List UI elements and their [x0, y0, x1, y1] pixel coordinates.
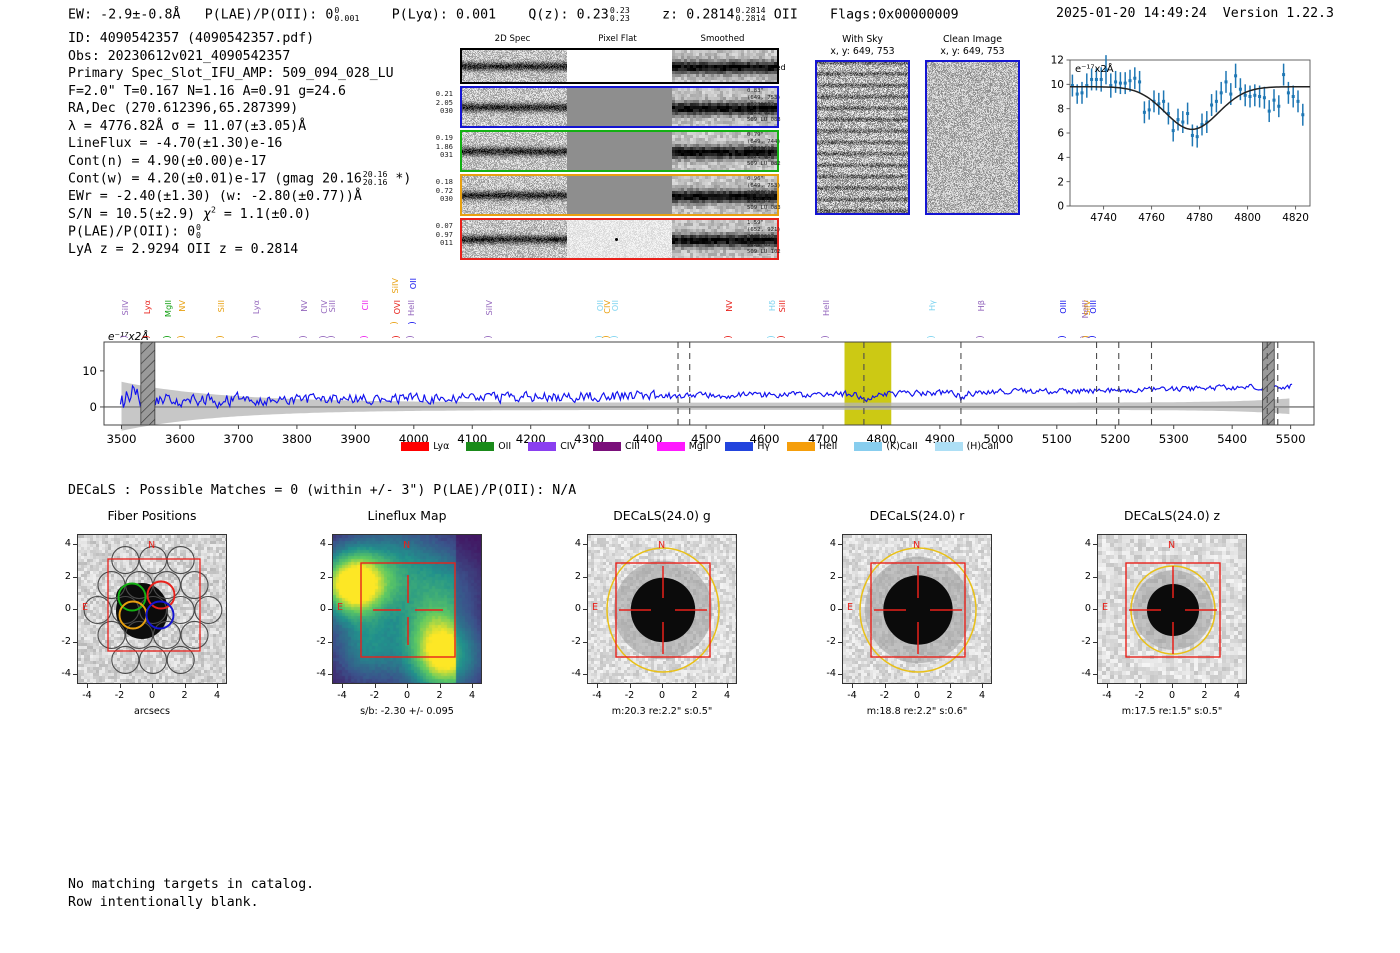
decals-ytick-label: -2	[812, 636, 836, 647]
decals-panel-title-0: Fiber Positions	[77, 508, 227, 523]
twod-left-label: 030	[415, 107, 453, 116]
spectrum-line-label-MgII: MgII	[163, 300, 173, 317]
decals-xtick-mark	[440, 684, 441, 688]
spectrum-line-brace: (	[404, 335, 414, 339]
legend-label: Lyα	[433, 441, 449, 452]
decals-panel-image-0	[77, 534, 227, 684]
decals-xtick-label: 4	[205, 690, 229, 701]
spectrum-line-brace: (	[297, 335, 307, 339]
legend-label: (H)CaII	[967, 441, 999, 452]
twod-right-label: 509_LU_083	[747, 117, 781, 124]
info-lineflux: LineFlux = -4.70(±1.30)e-16	[68, 135, 411, 153]
info-cont-w-sub: 20.16	[363, 178, 388, 186]
decals-ytick-label: -2	[47, 636, 71, 647]
decals-ytick-mark	[1093, 577, 1097, 578]
decals-xtick-label: 4	[970, 690, 994, 701]
decals-ytick-mark	[73, 642, 77, 643]
decals-overlay-3	[843, 535, 992, 684]
main-spectrum-panel: 0103500360037003800390040004100420043004…	[60, 276, 1320, 461]
header-qz-sub: 0.23	[610, 14, 630, 22]
twod-row-right-labels-1: 0.83"(649, 753)20230612v021_02509_LU_083	[747, 88, 781, 124]
decals-panel-title-2: DECaLS(24.0) g	[587, 508, 737, 523]
spectrum-line-label-HeII: HeII	[406, 300, 416, 316]
twod-row-left-labels-4: 0.070.97011	[415, 222, 453, 248]
spectrum-line-brace: (	[118, 335, 128, 339]
info-params: F=2.0" T=0.167 N=1.16 A=0.91 g=24.6	[68, 83, 411, 101]
footer-note: No matching targets in catalog. Row inte…	[68, 876, 314, 911]
legend-item-CIV: CIV	[528, 441, 576, 452]
spectrum-line-brace: (	[388, 321, 398, 325]
decals-xtick-label: -4	[75, 690, 99, 701]
decals-summary-line: DECaLS : Possible Matches = 0 (within +/…	[68, 483, 576, 498]
header-plya-label: P(Lyα):	[392, 7, 448, 22]
fitplot-ytick: 12	[1051, 55, 1064, 67]
cutout-image-sky	[815, 60, 910, 215]
decals-ytick-mark	[73, 577, 77, 578]
info-id: ID: 4090542357 (4090542357.pdf)	[68, 30, 411, 48]
decals-ytick-mark	[328, 544, 332, 545]
spectrum-line-label-H: Hβ	[976, 300, 986, 311]
spectrum-line-label-OII: OII	[408, 278, 418, 289]
info-sn-chi2: S/N = 10.5(±2.9) χ2 = 1.1(±0.0)	[68, 206, 411, 224]
decals-xtick-mark	[375, 684, 376, 688]
fitplot-xtick: 4800	[1234, 212, 1261, 224]
decals-ytick-label: -2	[302, 636, 326, 647]
spectrum-line-label-OIII: OIII	[1088, 300, 1098, 314]
twod-col-title-2dspec: 2D Spec	[460, 34, 565, 44]
decals-xtick-label: 4	[1225, 690, 1249, 701]
decals-ytick-mark	[583, 577, 587, 578]
spectrum-line-label-SiII: SiII	[216, 300, 226, 312]
decals-xtick-label: -4	[1095, 690, 1119, 701]
legend-item-CIII: CIII	[593, 441, 640, 452]
fitplot-xtick: 4760	[1138, 212, 1165, 224]
decals-ytick-label: 2	[1067, 571, 1091, 582]
cutout-image-clean	[925, 60, 1020, 215]
twod-right-label: (652, 921)	[747, 227, 781, 234]
decals-ytick-mark	[1093, 609, 1097, 610]
legend-item-HCaII: (H)CaII	[935, 441, 999, 452]
twod-right-label: 20230612	[747, 234, 781, 241]
spectrum-line-brace: (	[1055, 335, 1065, 339]
fitplot-ytick: 4	[1057, 152, 1064, 164]
decals-ytick-label: -4	[1067, 668, 1091, 679]
spectrum-line-brace: (	[325, 335, 335, 339]
decals-xtick-mark	[630, 684, 631, 688]
spectrum-line-label-SiIV: SiIV	[484, 300, 494, 316]
decals-ytick-label: 4	[302, 538, 326, 549]
cutout-thumbnail-group: With Skyx, y: 649, 753Clean Imagex, y: 6…	[815, 34, 1025, 249]
spectrum-line-label-Ly: Lyα	[142, 300, 152, 314]
decals-xtick-label: 0	[1160, 690, 1184, 701]
spectrum-line-label-SiII: SiII	[777, 300, 787, 312]
legend-swatch	[593, 442, 621, 451]
twod-left-label: 030	[415, 195, 453, 204]
decals-xtick-mark	[1107, 684, 1108, 688]
decals-ytick-mark	[73, 674, 77, 675]
decals-panel-title-4: DECaLS(24.0) z	[1097, 508, 1247, 523]
spectrum-line-label-Ly: Lyα	[251, 300, 261, 314]
decals-xtick-mark	[152, 684, 153, 688]
decals-ytick-mark	[73, 544, 77, 545]
decals-ytick-mark	[328, 642, 332, 643]
decals-ytick-mark	[1093, 642, 1097, 643]
decals-xtick-label: 2	[938, 690, 962, 701]
spectrum-line-brace: (	[924, 335, 934, 339]
decals-panel-image-3	[842, 534, 992, 684]
pixelflat-defect-dot	[615, 238, 618, 241]
twod-cell-smoothed	[672, 50, 777, 82]
legend-label: CIV	[560, 441, 576, 452]
decals-xtick-label: -2	[363, 690, 387, 701]
twod-spec-row-4	[460, 218, 779, 260]
twod-spec-row-1	[460, 86, 779, 128]
spectrum-line-brace: (	[775, 335, 785, 339]
spectrum-ytick: 0	[90, 400, 97, 414]
spectrum-line-label-NV: NV	[177, 300, 187, 312]
info-plae-ratio: P(LAE)/P(OII): 000	[68, 223, 411, 241]
decals-xtick-label: 0	[650, 690, 674, 701]
spectrum-line-brace: (	[1086, 335, 1096, 339]
decals-xtick-label: -2	[108, 690, 132, 701]
decals-xtick-label: 0	[395, 690, 419, 701]
decals-xtick-mark	[407, 684, 408, 688]
legend-label: (K)CaII	[886, 441, 917, 452]
twod-col-title-pixelflat: Pixel Flat	[565, 34, 670, 44]
legend-swatch	[401, 442, 429, 451]
spectrum-line-brace: (	[214, 335, 224, 339]
decals-xtick-mark	[917, 684, 918, 688]
decals-ytick-label: 2	[557, 571, 581, 582]
decals-ytick-mark	[838, 609, 842, 610]
spectrum-line-brace: (	[249, 335, 259, 339]
spectrum-line-brace: (	[764, 335, 774, 339]
decals-ytick-label: 0	[1067, 603, 1091, 614]
header-z-value: 0.2814	[686, 7, 734, 22]
decals-ytick-mark	[838, 577, 842, 578]
header-summary-line: EW: -2.9±-0.8Å P(LAE)/P(OII): 000.001 P(…	[68, 6, 959, 23]
decals-xtick-label: -4	[585, 690, 609, 701]
twod-right-label: 0.83"	[747, 88, 781, 95]
twod-right-label: (649, 753)	[747, 183, 781, 190]
decals-ytick-mark	[838, 642, 842, 643]
spectrum-line-brace: (	[175, 335, 185, 339]
decals-xtick-mark	[342, 684, 343, 688]
decals-ytick-label: 4	[47, 538, 71, 549]
twod-spec-panel-group: 2D Spec Pixel Flat Smoothed Weighted Sum…	[415, 34, 775, 249]
decals-ytick-label: -2	[1067, 636, 1091, 647]
legend-item-Ly: Lyα	[401, 441, 449, 452]
legend-label: MgII	[689, 441, 709, 452]
fitplot-ytick: 0	[1057, 201, 1064, 213]
cutout-title-text: Clean Image	[925, 34, 1020, 46]
spectrum-line-brace: (	[405, 321, 415, 325]
info-cont-w: Cont(w) = 4.20(±0.01)e-17 (gmag 20.1620.…	[68, 170, 411, 188]
decals-xtick-mark	[852, 684, 853, 688]
fitplot-xtick: 4740	[1090, 212, 1117, 224]
footer-line-1: No matching targets in catalog.	[68, 876, 314, 894]
decals-xtick-mark	[87, 684, 88, 688]
info-primary-spec: Primary Spec_Slot_IFU_AMP: 509_094_028_L…	[68, 65, 411, 83]
decals-xtick-mark	[695, 684, 696, 688]
info-plae-pre: P(LAE)/P(OII): 0	[68, 225, 195, 240]
info-ewr: EWr = -2.40(±1.30) (w: -2.80(±0.77))Å	[68, 188, 411, 206]
decals-xtick-mark	[472, 684, 473, 688]
decals-ytick-mark	[838, 674, 842, 675]
twod-cell-2dspec	[462, 50, 567, 82]
compass-east-2: E	[592, 602, 598, 613]
decals-ytick-label: 4	[557, 538, 581, 549]
cutout-coords-text: x, y: 649, 753	[925, 46, 1020, 58]
header-version: Version 1.22.3	[1223, 6, 1334, 21]
decals-panel-image-2	[587, 534, 737, 684]
spectrum-line-label-NV: NV	[299, 300, 309, 312]
twod-right-label: 0.96"	[747, 176, 781, 183]
twod-spec-row-3	[460, 174, 779, 216]
spectrum-masked-band-1	[1263, 342, 1275, 425]
fitplot-units-annotation: e⁻¹⁷x2Å	[1075, 62, 1114, 75]
spectrum-line-brace: (	[608, 335, 618, 339]
twod-right-label: 509_LU_083	[747, 205, 781, 212]
decals-xtick-label: -2	[618, 690, 642, 701]
spectrum-line-brace: (	[819, 335, 829, 339]
decals-overlay-4	[1098, 535, 1247, 684]
compass-north-0: N	[148, 540, 155, 551]
legend-swatch	[854, 442, 882, 451]
fitplot-ytick: 10	[1051, 79, 1064, 91]
spectrum-line-brace: (	[722, 335, 732, 339]
twod-cell-pixelflat	[567, 176, 672, 214]
fitplot-xtick: 4780	[1186, 212, 1213, 224]
twod-cell-pixelflat	[567, 88, 672, 126]
compass-east-1: E	[337, 602, 343, 613]
decals-xtick-mark	[597, 684, 598, 688]
spectrum-line-label-OIII: OIII	[1058, 300, 1068, 314]
decals-xtick-mark	[662, 684, 663, 688]
header-plae-sub: 0.001	[334, 14, 359, 22]
spectrum-line-brace: (	[161, 335, 171, 339]
decals-ytick-mark	[583, 674, 587, 675]
compass-north-3: N	[913, 540, 920, 551]
decals-panel-title-3: DECaLS(24.0) r	[842, 508, 992, 523]
decals-ytick-label: -4	[812, 668, 836, 679]
twod-right-label: v021_01	[747, 154, 781, 161]
decals-panel-title-1: Lineflux Map	[332, 508, 482, 523]
decals-xtick-mark	[1140, 684, 1141, 688]
twod-right-label: (649, 744)	[747, 139, 781, 146]
compass-east-3: E	[847, 602, 853, 613]
decals-xtick-mark	[727, 684, 728, 688]
legend-item-HeII: HeII	[787, 441, 837, 452]
decals-xtick-label: -2	[1128, 690, 1152, 701]
decals-ytick-label: -4	[47, 668, 71, 679]
twod-cell-2dspec	[462, 132, 567, 170]
decals-ytick-mark	[583, 544, 587, 545]
decals-xtick-label: 2	[1193, 690, 1217, 701]
spectrum-line-label-SiII: SiII	[327, 300, 337, 312]
twod-row-left-labels-1: 0.212.05030	[415, 90, 453, 116]
decals-xtick-label: 2	[428, 690, 452, 701]
spectrum-line-label-H: Hδ	[767, 300, 777, 311]
legend-label: CIII	[625, 441, 640, 452]
decals-xtick-label: -4	[330, 690, 354, 701]
twod-right-label: (649, 753)	[747, 95, 781, 102]
spectrum-line-brace: (	[390, 335, 400, 339]
twod-row-left-labels-3: 0.180.72030	[415, 178, 453, 204]
decals-ytick-mark	[583, 609, 587, 610]
spectrum-line-label-OII: OII	[610, 300, 620, 311]
decals-ytick-label: 2	[47, 571, 71, 582]
twod-right-label: 509_LU_102	[747, 249, 781, 256]
twod-right-label: 20230612	[747, 102, 781, 109]
decals-panel-image-1	[332, 534, 482, 684]
decals-panel-caption-1: s/b: -2.30 +/- 0.095	[307, 706, 507, 717]
header-z-species: OII	[774, 7, 798, 22]
decals-ytick-mark	[1093, 674, 1097, 675]
twod-spec-row-0	[460, 48, 779, 84]
decals-ytick-label: 4	[1067, 538, 1091, 549]
decals-ytick-mark	[73, 609, 77, 610]
header-ew-value: -2.9±-0.8Å	[100, 7, 180, 22]
twod-col-title-smoothed: Smoothed	[670, 34, 775, 44]
header-flags: Flags:0x00000009	[830, 7, 959, 22]
info-obs: Obs: 20230612v021_4090542357	[68, 48, 411, 66]
twod-row-left-labels-2: 0.191.86031	[415, 134, 453, 160]
decals-xtick-label: 2	[683, 690, 707, 701]
decals-ytick-label: 2	[302, 571, 326, 582]
decals-xtick-mark	[950, 684, 951, 688]
header-timestamp-version: 2025-01-20 14:49:24 Version 1.22.3	[1056, 6, 1334, 21]
compass-east-4: E	[1102, 602, 1108, 613]
twod-row-right-labels-3: 0.96"(649, 753)20230612v021_03509_LU_083	[747, 176, 781, 212]
decals-xtick-mark	[885, 684, 886, 688]
legend-label: HeII	[819, 441, 837, 452]
fiber-overlay	[78, 535, 227, 684]
decals-ytick-label: -2	[557, 636, 581, 647]
cutout-title-text: With Sky	[815, 34, 910, 46]
decals-ytick-label: 0	[47, 603, 71, 614]
compass-north-1: N	[403, 540, 410, 551]
decals-panel-image-4	[1097, 534, 1247, 684]
decals-panel-caption-3: m:18.8 re:2.2" s:0.6"	[817, 706, 1017, 717]
decals-xtick-label: -2	[873, 690, 897, 701]
spectrum-line-brace: (	[357, 335, 367, 339]
twod-left-label: 011	[415, 239, 453, 248]
line-fit-plot: 02468101247404760478048004820e⁻¹⁷x2Å	[1036, 52, 1316, 232]
decals-xtick-mark	[185, 684, 186, 688]
twod-right-label: 20230612	[747, 190, 781, 197]
decals-xtick-label: 2	[173, 690, 197, 701]
fitplot-ytick: 2	[1057, 176, 1064, 188]
decals-ytick-mark	[328, 674, 332, 675]
twod-row-right-labels-4: 1.59"(652, 921)20230612v021_03509_LU_102	[747, 220, 781, 256]
decals-ytick-label: 2	[812, 571, 836, 582]
spectrum-line-label-HeII: HeII	[821, 300, 831, 316]
decals-panel-group: Fiber PositionsNE-4-2024420-2-4arcsecsLi…	[55, 508, 1345, 713]
legend-swatch	[725, 442, 753, 451]
cutout-title-sky: With Skyx, y: 649, 753	[815, 34, 910, 57]
twod-right-label: v021_02	[747, 110, 781, 117]
decals-ytick-label: -4	[302, 668, 326, 679]
header-datetime: 2025-01-20 14:49:24	[1056, 6, 1207, 21]
twod-right-label: 1.59"	[747, 220, 781, 227]
compass-east-0: E	[82, 602, 88, 613]
legend-item-H: Hγ	[725, 441, 770, 452]
spectrum-highlight-band	[845, 342, 892, 425]
legend-item-MgII: MgII	[657, 441, 709, 452]
header-plae-value: 0	[325, 7, 333, 22]
info-sn-pre: S/N = 10.5(±2.9)	[68, 207, 203, 222]
decals-ytick-mark	[328, 609, 332, 610]
decals-panel-caption-2: m:20.3 re:2.2" s:0.5"	[562, 706, 762, 717]
decals-ytick-label: 4	[812, 538, 836, 549]
info-chi-symbol: χ	[203, 207, 211, 222]
decals-ytick-label: 0	[557, 603, 581, 614]
decals-panel-caption-4: m:17.5 re:1.5" s:0.5"	[1072, 706, 1272, 717]
twod-cell-2dspec	[462, 220, 567, 258]
header-qz-value: 0.23	[577, 7, 609, 22]
decals-xtick-mark	[1172, 684, 1173, 688]
info-radec: RA,Dec (270.612396,65.287399)	[68, 100, 411, 118]
legend-item-KCaII: (K)CaII	[854, 441, 917, 452]
decals-panel-caption-0: arcsecs	[52, 706, 252, 717]
header-z-label: z:	[662, 7, 678, 22]
decals-ytick-mark	[583, 642, 587, 643]
spectrum-legend: LyαOIICIVCIIIMgIIHγHeII(K)CaII(H)CaII	[0, 441, 1400, 452]
twod-cell-pixelflat	[567, 132, 672, 170]
info-lambda-sigma: λ = 4776.82Å σ = 11.07(±3.05)Å	[68, 118, 411, 136]
twod-right-label: 0.79"	[747, 132, 781, 139]
spectrum-line-brace: (	[974, 335, 984, 339]
spectrum-line-label-SiIV: SiIV	[120, 300, 130, 316]
spectrum-line-label-CII: CII	[360, 300, 370, 311]
spectrum-masked-band-0	[141, 342, 155, 425]
info-plae-sub: 0	[196, 231, 201, 239]
twod-right-label: 20230612	[747, 146, 781, 153]
decals-ytick-mark	[1093, 544, 1097, 545]
legend-swatch	[657, 442, 685, 451]
main-spectrum-svg: 0103500360037003800390040004100420043004…	[60, 276, 1320, 461]
legend-label: OII	[498, 441, 511, 452]
twod-right-label: v021_03	[747, 242, 781, 249]
spectrum-ytick: 10	[82, 364, 97, 378]
cutout-coords-text: x, y: 649, 753	[815, 46, 910, 58]
twod-cell-2dspec	[462, 88, 567, 126]
decals-xtick-mark	[120, 684, 121, 688]
decals-xtick-mark	[1237, 684, 1238, 688]
info-cont-n: Cont(n) = 4.90(±0.00)e-17	[68, 153, 411, 171]
legend-label: Hγ	[757, 441, 770, 452]
spectrum-line-label-H: Hγ	[927, 300, 937, 311]
legend-swatch	[528, 442, 556, 451]
line-fit-svg: 02468101247404760478048004820e⁻¹⁷x2Å	[1036, 52, 1316, 232]
decals-ytick-label: -4	[557, 668, 581, 679]
spectrum-line-brace: (	[140, 335, 150, 339]
info-cont-w-post: *)	[395, 172, 411, 187]
twod-left-label: 031	[415, 151, 453, 160]
legend-swatch	[466, 442, 494, 451]
twod-cell-2dspec	[462, 176, 567, 214]
legend-item-OII: OII	[466, 441, 511, 452]
twod-right-label: v021_03	[747, 198, 781, 205]
legend-swatch	[935, 442, 963, 451]
decals-ytick-mark	[328, 577, 332, 578]
decals-xtick-mark	[217, 684, 218, 688]
decals-xtick-mark	[1205, 684, 1206, 688]
info-cont-w-pre: Cont(w) = 4.20(±0.01)e-17 (gmag 20.16	[68, 172, 362, 187]
decals-ytick-mark	[838, 544, 842, 545]
decals-xtick-label: -4	[840, 690, 864, 701]
